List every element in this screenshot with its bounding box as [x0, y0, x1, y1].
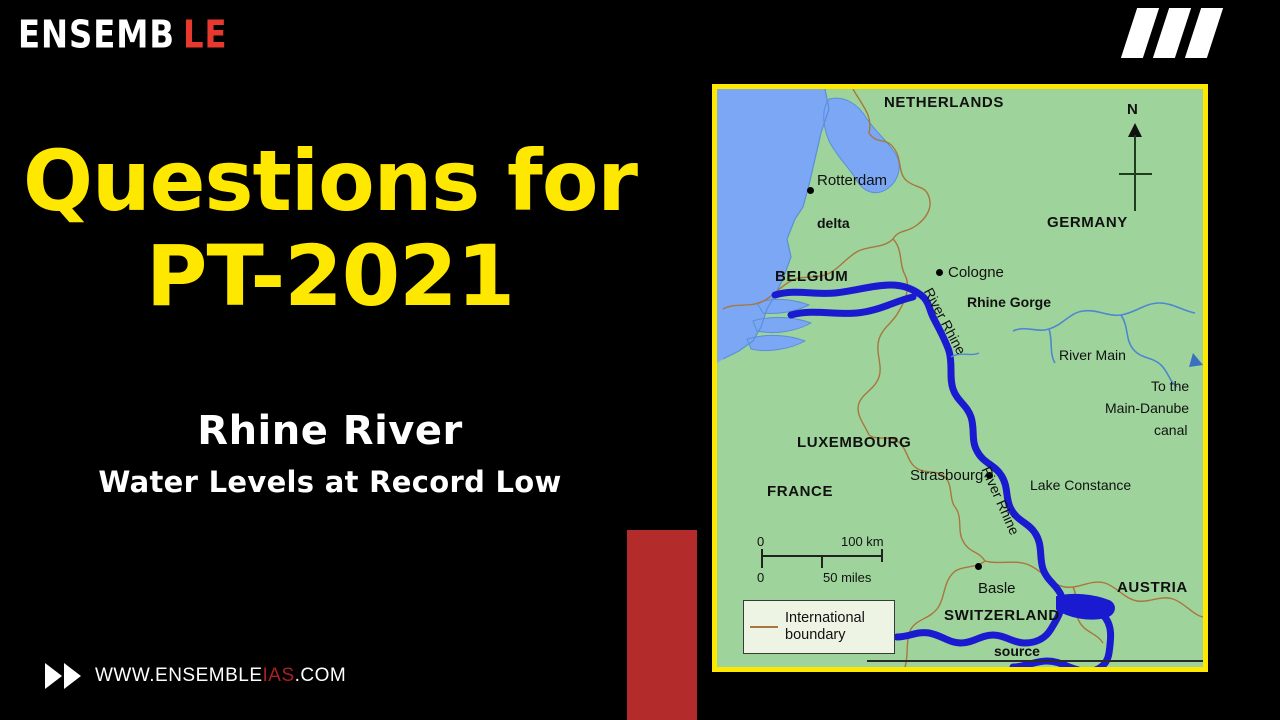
city-label-cologne: Cologne [948, 264, 1004, 281]
feature-label-river-main: River Main [1059, 347, 1126, 363]
city-dot-rotterdam [807, 187, 814, 194]
logo-text-red: LE [183, 16, 228, 54]
map-canvas: NETHERLANDS GERMANY BELGIUM LUXEMBOURG F… [717, 89, 1203, 667]
river-main [1013, 303, 1195, 387]
slash-bar-1 [1121, 8, 1159, 58]
city-label-basle: Basle [978, 580, 1016, 597]
headline-line-2: PT-2021 [0, 232, 660, 320]
subtitle-secondary: Water Levels at Record Low [0, 465, 660, 499]
feature-label-source: source [994, 643, 1040, 659]
fast-forward-icon [45, 663, 81, 689]
feature-label-main-danube: Main-Danube [1105, 400, 1189, 416]
country-label-netherlands: NETHERLANDS [884, 94, 1004, 111]
feature-label-rhine-gorge: Rhine Gorge [967, 294, 1051, 310]
main-danube-arrow [1189, 353, 1203, 367]
scale-km-value: 100 km [841, 534, 884, 549]
rhine-delta-branch [791, 297, 913, 315]
slide-root: ENSEMBLE Questions for PT-2021 Rhine Riv… [0, 0, 1280, 720]
compass-rose-icon: N [1115, 101, 1155, 211]
subtitle-primary: Rhine River [0, 408, 660, 454]
river-rhine-course [775, 285, 1062, 643]
map-scale-bar: 0 100 km 0 50 miles [753, 532, 913, 588]
scale-tick-left-miles [761, 555, 763, 568]
feature-label-delta: delta [817, 215, 850, 231]
map-legend: International boundary [743, 600, 895, 654]
legend-text: International boundary [785, 610, 865, 643]
country-label-austria: AUSTRIA [1117, 579, 1188, 596]
scale-km-zero: 0 [757, 534, 764, 549]
country-label-germany: GERMANY [1047, 214, 1128, 231]
country-label-france: FRANCE [767, 483, 833, 500]
legend-boundary-swatch [750, 626, 778, 628]
feature-label-to-the: To the [1151, 378, 1189, 394]
accent-block [627, 530, 697, 720]
page-title: Questions for PT-2021 [0, 140, 660, 321]
fast-forward-triangle-1 [45, 663, 62, 689]
legend-line-1: International [785, 610, 865, 626]
country-label-switzerland: SWITZERLAND [944, 607, 1060, 624]
slash-bar-2 [1153, 8, 1191, 58]
url-prefix: WWW.ENSEMBLE [95, 665, 263, 686]
slash-bar-3 [1185, 8, 1223, 58]
scale-miles-value: 50 miles [823, 570, 871, 585]
corner-slashes-icon [1129, 8, 1215, 58]
website-url[interactable]: WWW.ENSEMBLEIAS.COM [95, 665, 346, 687]
city-label-rotterdam: Rotterdam [817, 172, 887, 189]
ensemble-logo: ENSEMBLE [18, 18, 230, 52]
scale-tick-right-km [881, 549, 883, 562]
city-dot-cologne [936, 269, 943, 276]
city-dot-basle [975, 563, 982, 570]
compass-north-label: N [1127, 101, 1138, 118]
feature-label-lake-constance: Lake Constance [1030, 477, 1131, 493]
headline-line-1: Questions for [7, 140, 654, 222]
url-highlight: IAS [263, 665, 295, 686]
country-label-luxembourg: LUXEMBOURG [797, 434, 911, 451]
delta-water-3 [747, 335, 805, 350]
fast-forward-triangle-2 [64, 663, 81, 689]
rhine-river-map: NETHERLANDS GERMANY BELGIUM LUXEMBOURG F… [712, 84, 1208, 672]
country-label-belgium: BELGIUM [775, 268, 848, 285]
scale-miles-zero: 0 [757, 570, 764, 585]
scale-tick-right-miles [821, 555, 823, 568]
legend-line-2: boundary [785, 627, 845, 643]
feature-label-canal: canal [1154, 422, 1187, 438]
footer: WWW.ENSEMBLEIAS.COM [45, 663, 346, 689]
url-suffix: .COM [295, 665, 347, 686]
logo-text-white: ENSEMB [18, 16, 175, 54]
city-label-strasbourg: Strasbourg [910, 467, 983, 484]
compass-crossbar [1119, 173, 1152, 175]
